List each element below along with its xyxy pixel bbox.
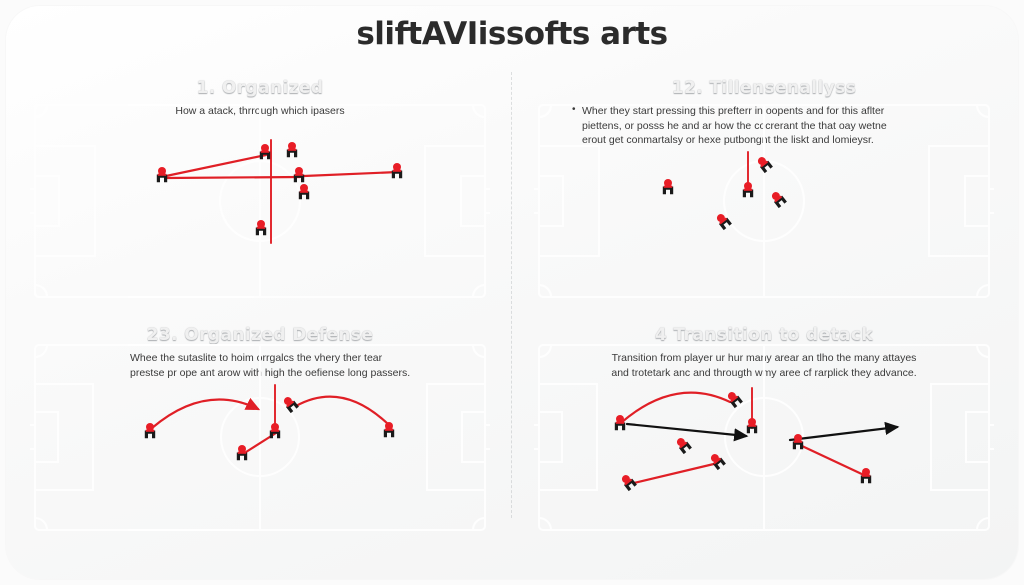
player-marker[interactable] — [725, 390, 743, 408]
player-marker[interactable] — [392, 163, 402, 178]
tactic-arrow — [622, 393, 730, 422]
player-marker[interactable] — [755, 155, 773, 173]
tactic-arrow — [152, 399, 258, 428]
player-marker[interactable] — [793, 434, 803, 449]
player-marker[interactable] — [157, 167, 167, 182]
player-marker[interactable] — [663, 179, 673, 194]
tactic-arrow — [802, 446, 866, 476]
tactic-arrow — [790, 427, 897, 440]
player-marker[interactable] — [747, 418, 757, 433]
player-marker[interactable] — [294, 167, 304, 182]
tactic-arrow — [304, 172, 398, 176]
player-marker[interactable] — [708, 452, 726, 470]
player-marker[interactable] — [714, 212, 732, 230]
player-marker[interactable] — [861, 468, 871, 483]
player-marker[interactable] — [281, 395, 299, 413]
tactic-arrow — [634, 463, 718, 483]
player-marker[interactable] — [743, 182, 753, 197]
tactic-arrow — [166, 177, 300, 178]
player-marker[interactable] — [260, 144, 270, 159]
player-marker[interactable] — [615, 415, 625, 430]
player-marker[interactable] — [287, 142, 297, 157]
tactics-overlay — [0, 0, 1024, 585]
player-marker[interactable] — [769, 190, 787, 208]
player-marker[interactable] — [619, 473, 637, 491]
tactic-arrow — [166, 155, 266, 176]
player-marker[interactable] — [299, 184, 309, 199]
player-marker[interactable] — [384, 422, 394, 437]
player-marker[interactable] — [256, 220, 266, 235]
player-marker[interactable] — [674, 436, 692, 454]
player-marker-layer — [145, 142, 871, 491]
tactic-arrow — [627, 424, 746, 436]
tactics-board-screenshot: sliftAVIissofts arts 1. Organized How a … — [0, 0, 1024, 585]
arrow-layer — [152, 140, 897, 483]
player-marker[interactable] — [270, 423, 280, 438]
player-marker[interactable] — [237, 445, 247, 460]
tactic-arrow — [296, 397, 390, 426]
